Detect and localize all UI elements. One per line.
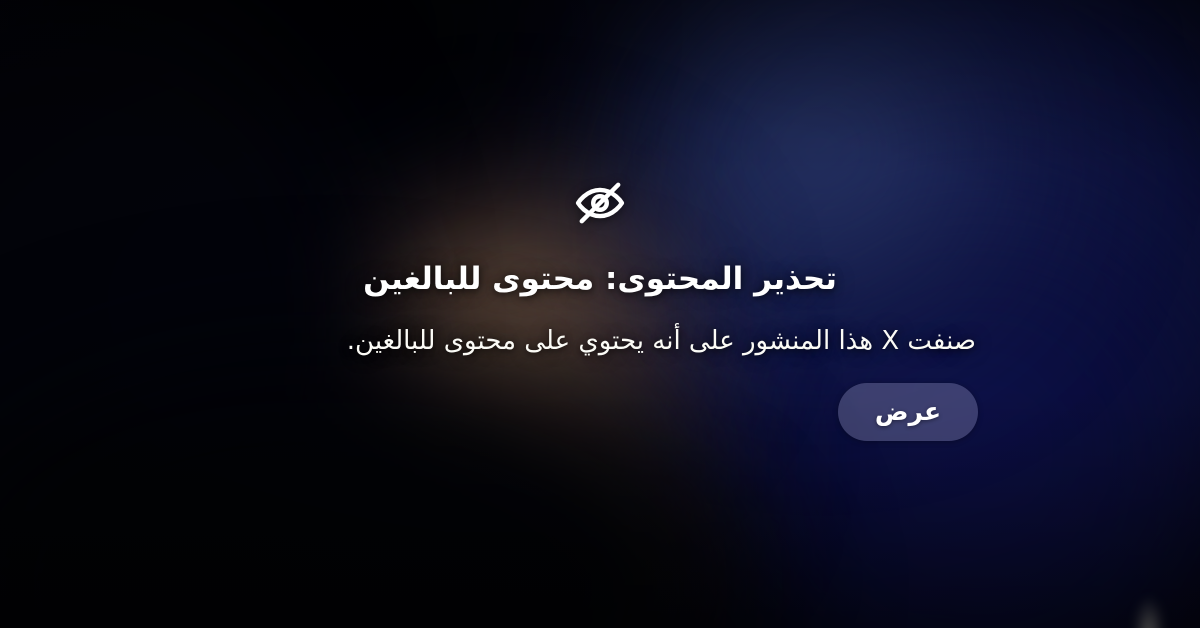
warning-icon-row [222,175,978,231]
content-warning-overlay: تحذير المحتوى: محتوى للبالغين صنفت X هذا… [0,0,1200,628]
content-warning-card: تحذير المحتوى: محتوى للبالغين صنفت X هذا… [222,175,978,440]
eye-off-icon [572,175,628,231]
view-button[interactable]: عرض [838,383,978,441]
warning-description: صنفت X هذا المنشور على أنه يحتوي على محت… [222,323,978,361]
page-title: تحذير المحتوى: محتوى للبالغين [222,259,978,301]
warning-action-row: عرض [222,383,978,441]
